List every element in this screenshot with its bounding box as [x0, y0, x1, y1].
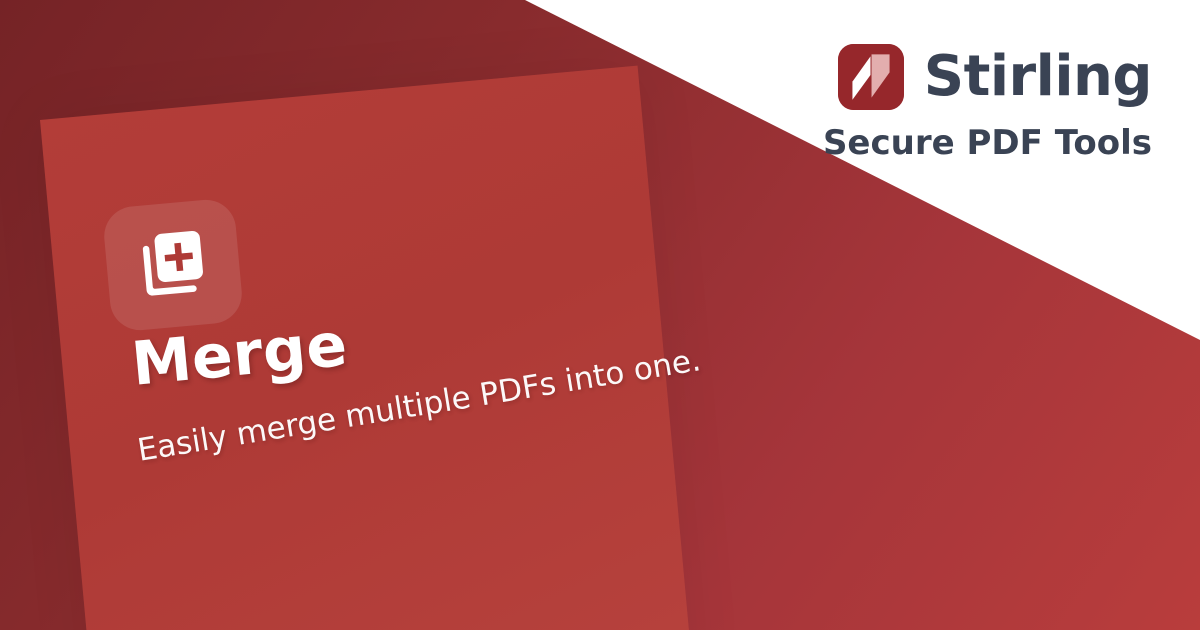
og-banner: Merge Easily merge multiple PDFs into on…	[0, 0, 1200, 630]
stirling-logo-icon	[838, 44, 904, 110]
brand-block: Stirling Secure PDF Tools	[823, 44, 1152, 160]
brand-tagline: Secure PDF Tools	[823, 126, 1152, 160]
merge-tool-icon-badge	[102, 197, 245, 332]
merge-pages-add-icon	[131, 223, 216, 308]
brand-row: Stirling	[838, 44, 1152, 110]
brand-name: Stirling	[924, 49, 1152, 105]
